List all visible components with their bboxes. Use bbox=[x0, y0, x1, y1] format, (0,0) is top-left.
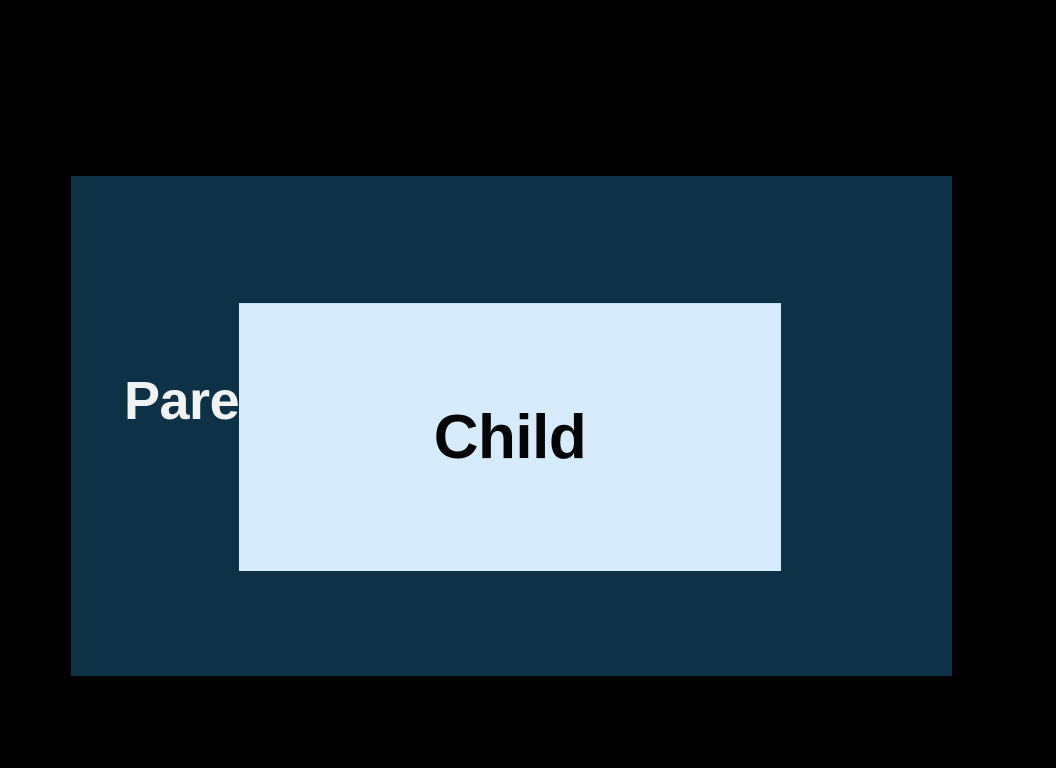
child-label: Child bbox=[434, 407, 586, 469]
diagram-canvas: Parent Child bbox=[0, 0, 1056, 768]
parent-box[interactable]: Parent Child bbox=[71, 176, 952, 676]
child-box[interactable]: Child bbox=[239, 303, 781, 571]
